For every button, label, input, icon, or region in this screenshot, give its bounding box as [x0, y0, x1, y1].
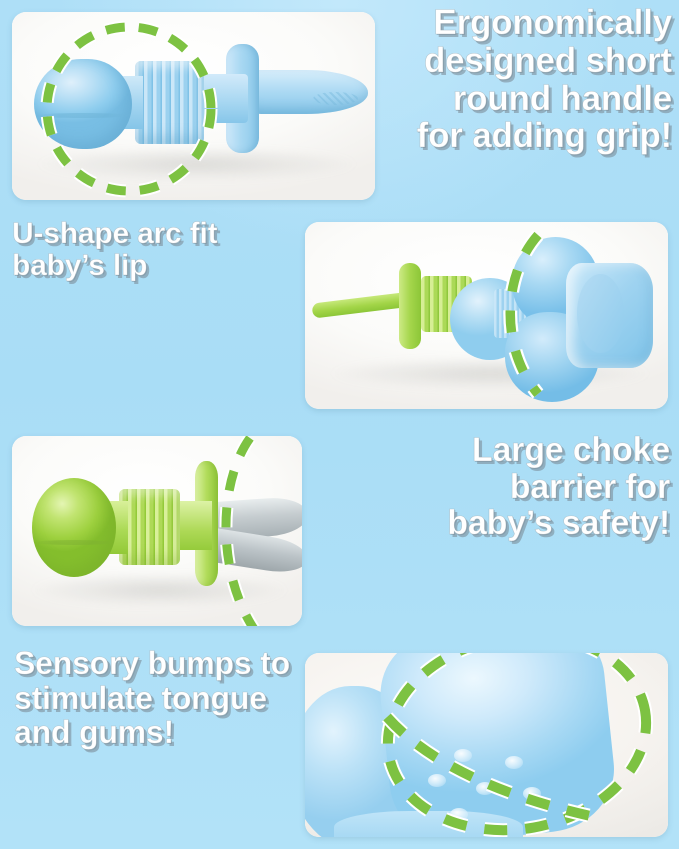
photo-sensory-bumps-scene	[305, 653, 668, 837]
photo-u-shape-arc-scene	[305, 222, 668, 409]
green-barrier-disc	[399, 263, 421, 349]
round-handle-ball	[32, 478, 116, 577]
pacifier-nipple	[244, 70, 367, 113]
sensory-bump	[454, 749, 472, 762]
ribbed-grip	[135, 61, 204, 144]
caption-ergonomic-handle: Ergonomically designed short round handl…	[404, 4, 672, 155]
photo-sensory-bumps	[305, 653, 668, 837]
caption-sensory-bumps: Sensory bumps to stimulate tongue and gu…	[14, 646, 294, 750]
infographic-page: Ergonomically designed short round handl…	[0, 0, 679, 849]
caption-choke-barrier: Large choke barrier for baby’s safety!	[410, 432, 670, 542]
ribbed-grip	[119, 489, 180, 565]
product-drop-shadow	[29, 573, 290, 607]
photo-u-shape-arc	[305, 222, 668, 409]
u-shape-cup-inner	[577, 274, 624, 353]
sensory-bump	[505, 756, 523, 769]
pacifier-stem	[197, 74, 248, 123]
photo-round-handle-scene	[12, 12, 375, 200]
teether-stem	[174, 501, 212, 550]
photo-choke-barrier	[12, 436, 302, 626]
sensory-bump	[476, 782, 494, 795]
photo-round-handle	[12, 12, 375, 200]
photo-choke-barrier-scene	[12, 436, 302, 626]
nipple-surface	[375, 653, 620, 837]
sensory-bump	[450, 808, 468, 821]
product-drop-shadow	[34, 147, 361, 181]
nipple-base	[334, 811, 523, 837]
round-handle-ball	[34, 59, 132, 149]
caption-u-shape-arc: U-shape arc fit baby’s lip	[12, 218, 302, 283]
